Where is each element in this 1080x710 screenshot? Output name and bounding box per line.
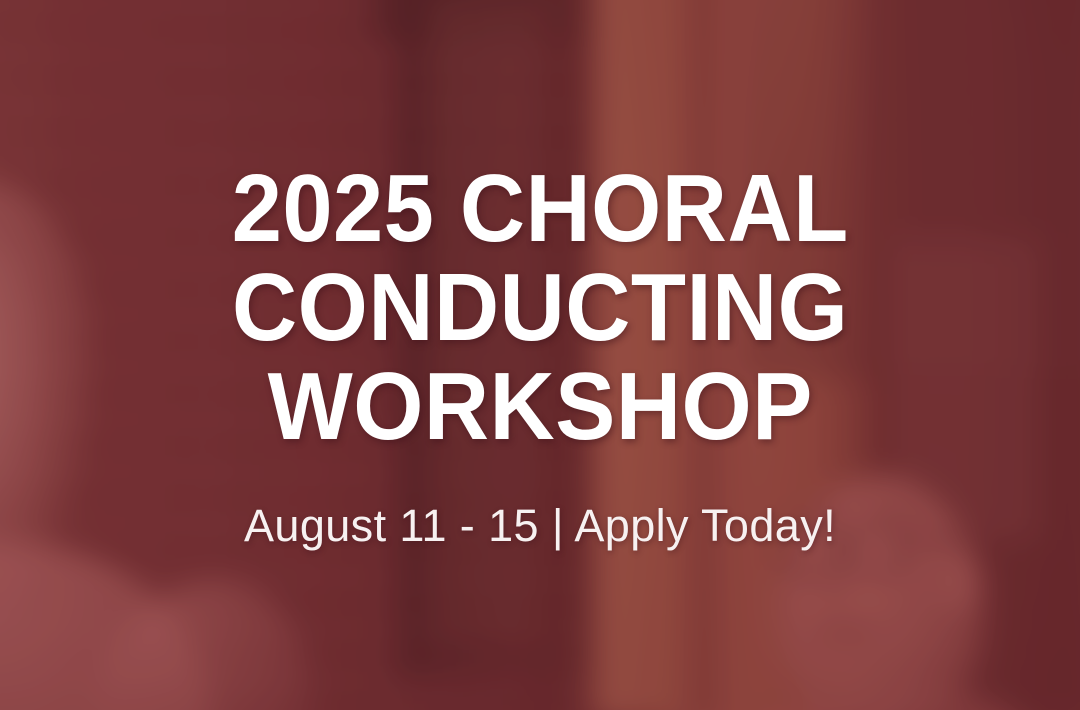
promo-poster: 2025 CHORAL CONDUCTING WORKSHOP August 1… [0,0,1080,710]
headline-line-1: 2025 CHORAL [232,160,849,259]
poster-content: 2025 CHORAL CONDUCTING WORKSHOP August 1… [0,0,1080,710]
subtitle-dates-cta[interactable]: August 11 - 15 | Apply Today! [244,501,836,551]
headline-line-2: CONDUCTING [232,259,849,358]
page-title: 2025 CHORAL CONDUCTING WORKSHOP [232,160,849,457]
headline-line-3: WORKSHOP [232,358,849,457]
